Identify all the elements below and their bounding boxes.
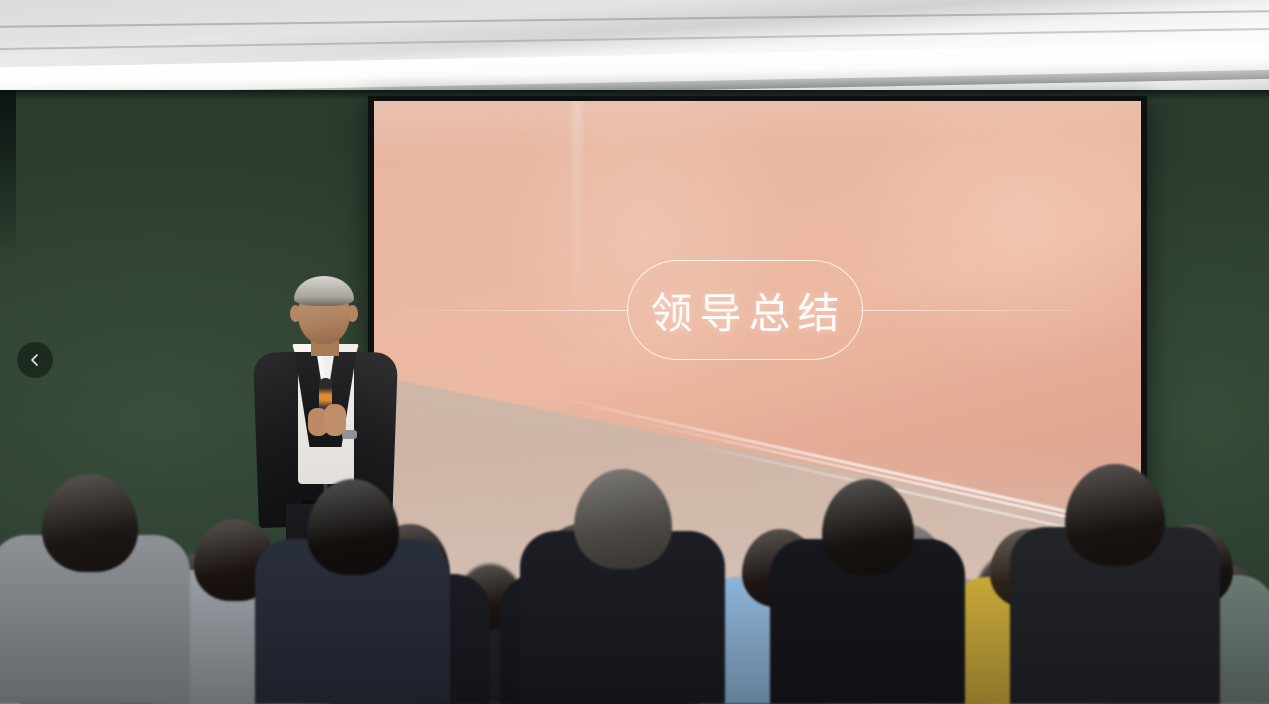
audience-person-head	[1065, 464, 1165, 566]
audience-person-head	[307, 479, 399, 575]
audience-person	[520, 469, 725, 704]
screen-light-bloom	[841, 101, 1141, 371]
slide-rule-left	[384, 310, 629, 311]
speaker-wristwatch	[342, 430, 357, 439]
slide-rule-right	[860, 310, 1130, 311]
audience	[0, 444, 1269, 704]
previous-button[interactable]	[17, 342, 53, 378]
audience-person	[1010, 464, 1220, 704]
ceiling-seam	[0, 10, 1269, 28]
slide-title-pill: 领导总结	[627, 260, 863, 360]
audience-person	[770, 479, 965, 704]
audience-person-head	[574, 469, 672, 569]
wall-left-shadow	[0, 90, 16, 260]
audience-person-head	[822, 479, 914, 575]
audience-person	[0, 474, 190, 704]
screen-light-streak	[572, 101, 582, 351]
screenshot-root: 领导总结 伟	[0, 0, 1269, 704]
speaker-hair	[294, 276, 354, 306]
chevron-left-icon	[27, 352, 43, 368]
audience-person-head	[42, 474, 138, 572]
slide-title: 领导总结	[643, 280, 846, 341]
audience-person	[255, 479, 450, 704]
